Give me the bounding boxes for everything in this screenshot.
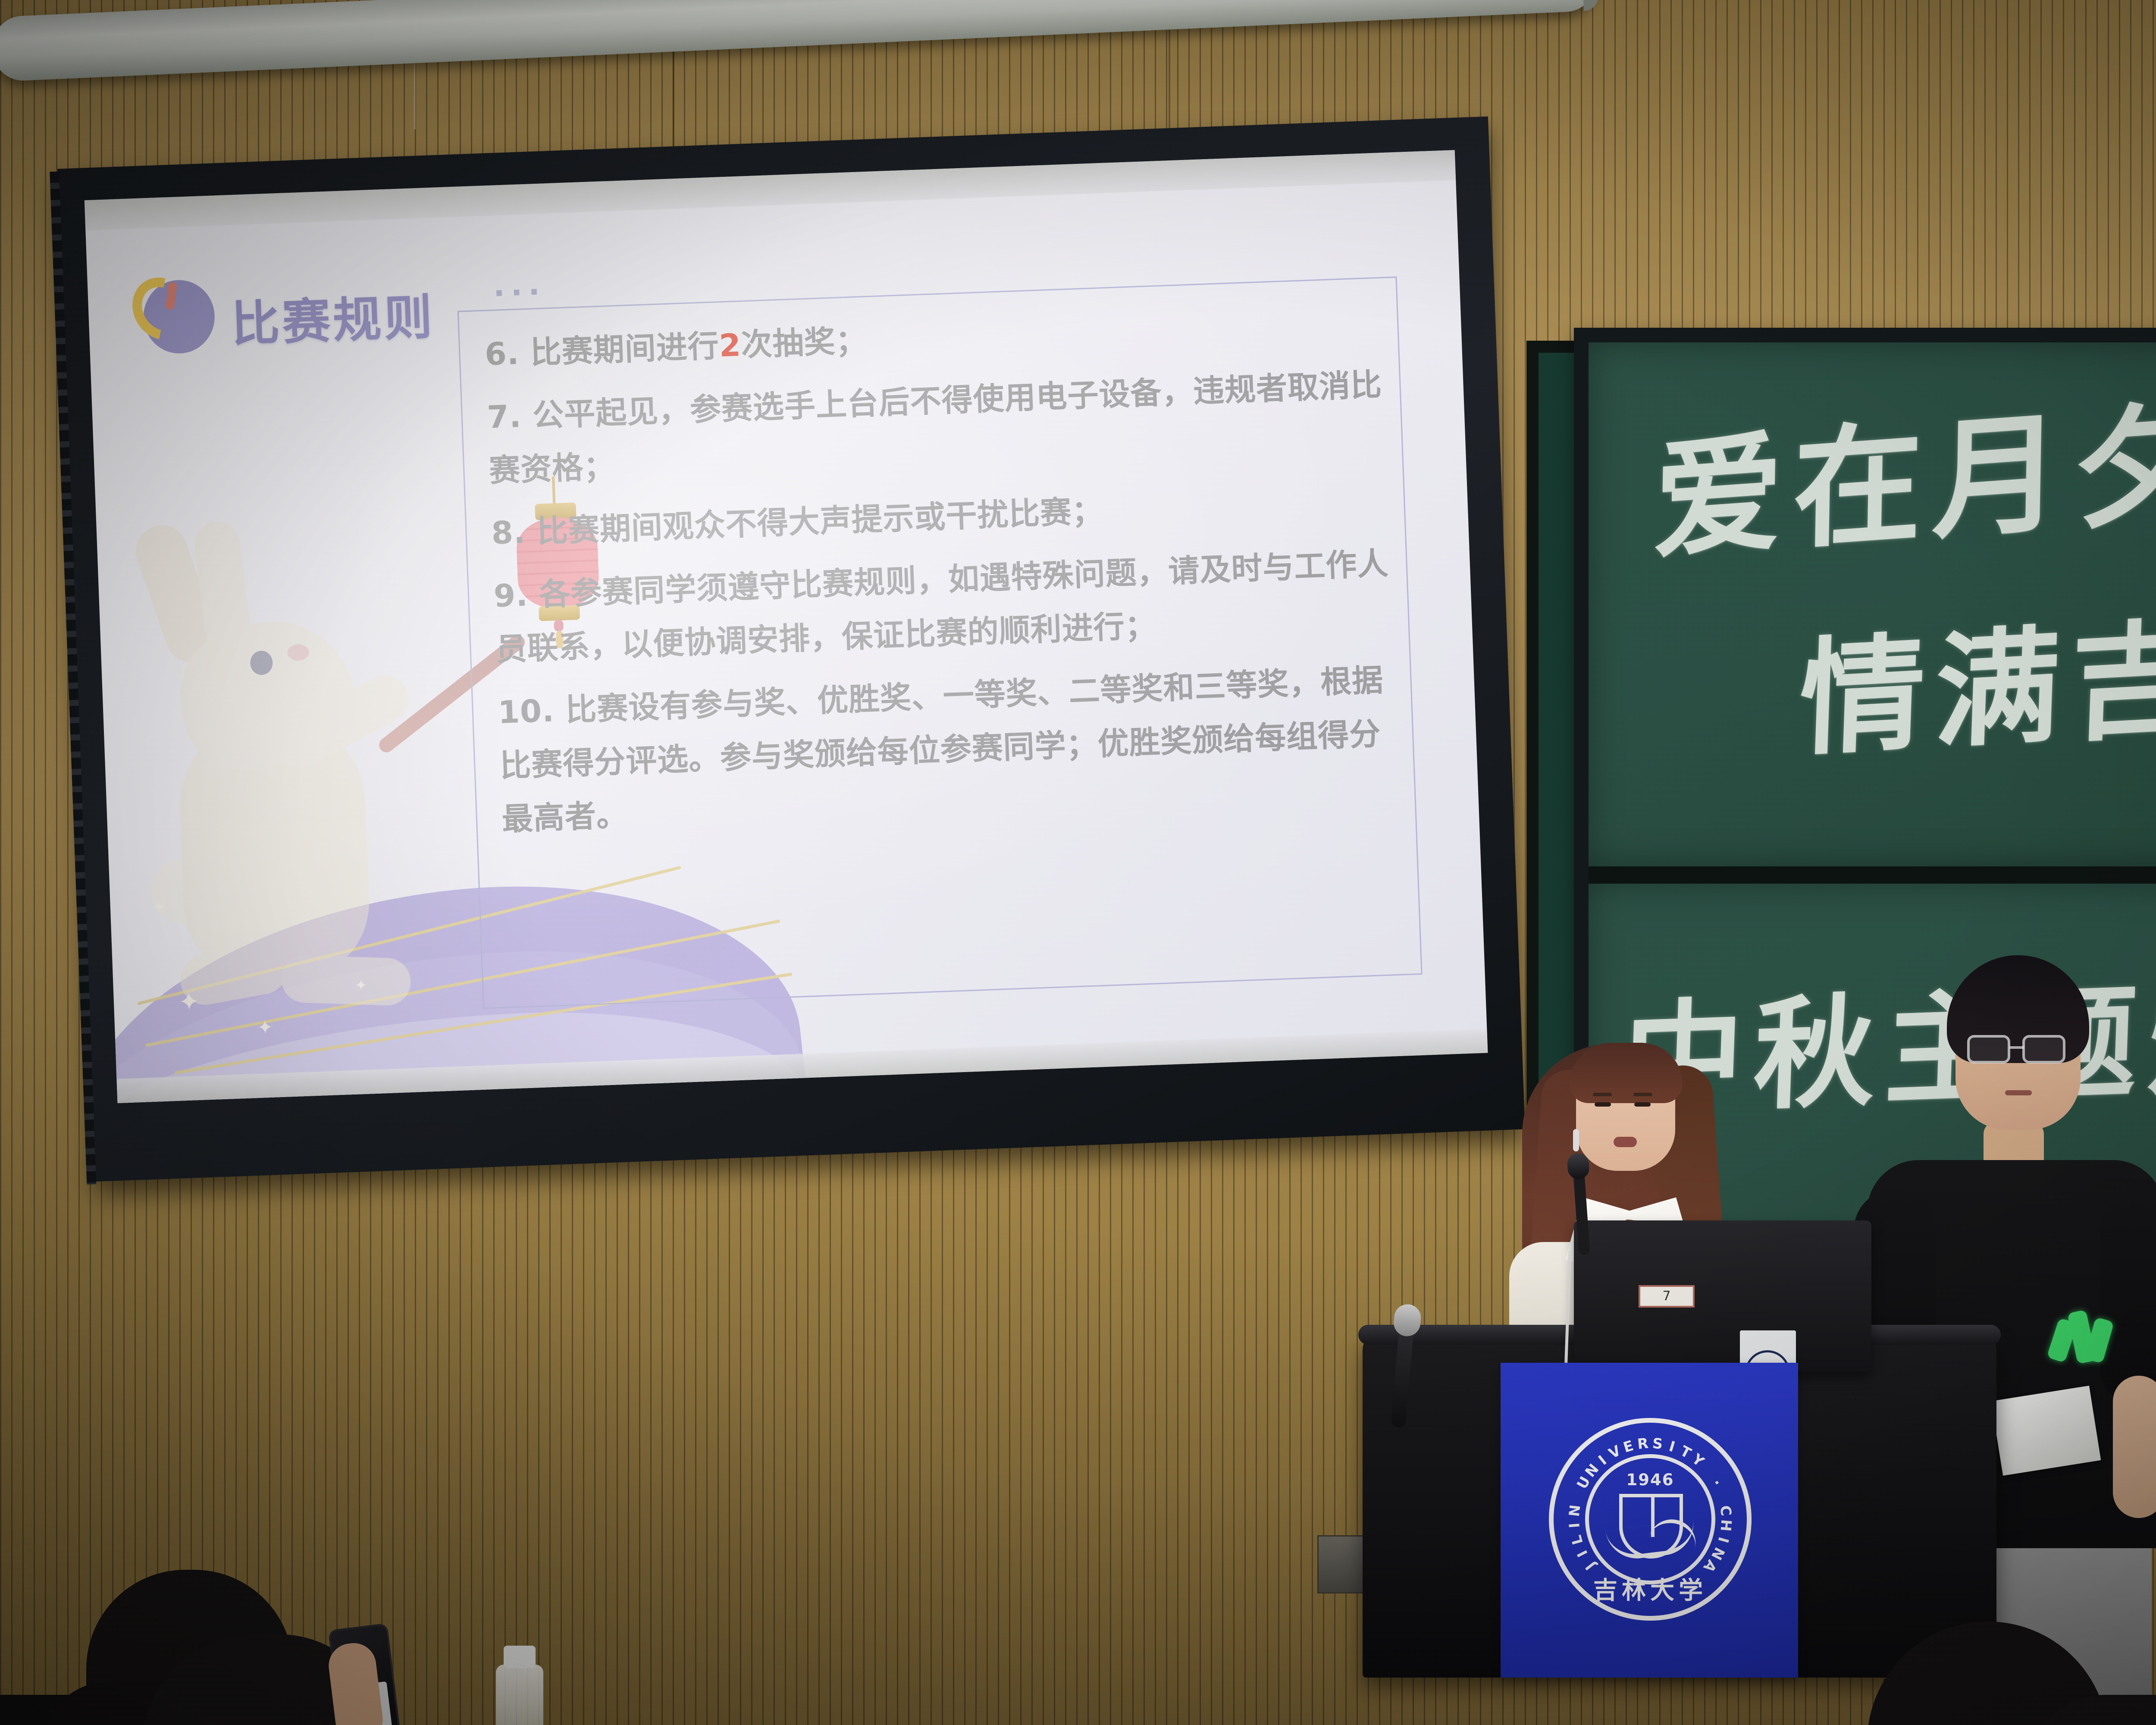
lecture-hall-scene: ✦ ✦ ✦ ✦ 比赛规则 ... 6. 比赛期间进行2次抽奖； [0,0,2156,1725]
scene-vignette [0,0,2156,1725]
